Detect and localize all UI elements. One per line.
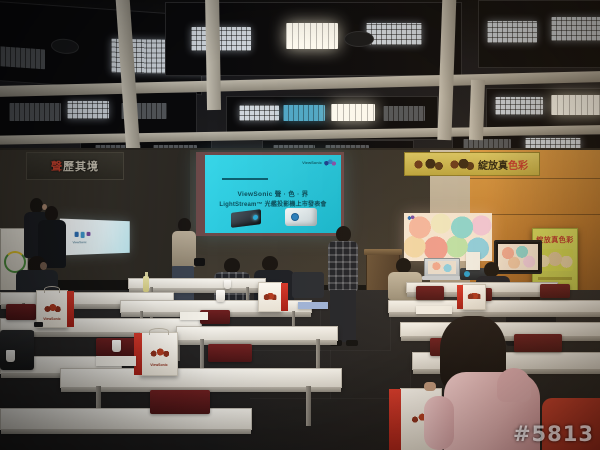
handout-paper — [416, 306, 452, 314]
paper-cup — [112, 340, 121, 352]
ceiling-beam — [205, 0, 221, 110]
hand — [424, 382, 436, 391]
demo-monitor — [494, 240, 542, 274]
chair — [150, 390, 210, 414]
handout-paper — [180, 312, 208, 320]
table-leg — [200, 339, 204, 369]
head — [45, 206, 58, 221]
bag-gusset — [457, 285, 463, 309]
laptop-base — [422, 276, 460, 280]
viewsonic-logo-text: ViewSonic — [302, 161, 322, 165]
face — [40, 262, 47, 270]
laptop-lid — [424, 258, 460, 278]
chair — [514, 334, 562, 352]
ceiling-lamp — [487, 21, 537, 43]
ceiling-lamp — [495, 97, 543, 115]
gift-bag: ViewSonic — [140, 332, 178, 376]
bag-handle — [44, 286, 61, 293]
banner-artwork — [448, 157, 474, 172]
ceiling-lamp — [283, 105, 325, 121]
bag-logo — [43, 303, 61, 312]
ceiling-vent — [51, 38, 79, 55]
ceiling-lamp — [331, 104, 375, 121]
chair — [416, 286, 444, 300]
camera — [194, 258, 205, 266]
gift-bag — [462, 284, 486, 310]
watermark: #5813 — [513, 422, 594, 446]
paper-cup — [224, 280, 231, 289]
head — [262, 256, 278, 271]
bag-gusset — [281, 283, 288, 311]
ceiling-lamp — [366, 23, 422, 45]
bag-handle — [149, 328, 169, 335]
ceiling-lamp — [67, 101, 109, 119]
torso — [328, 241, 358, 291]
ceiling-lamp — [191, 27, 251, 51]
product-image-white-projector — [285, 208, 317, 226]
slide-title-line1: ViewSonic 聲 · 色 · 界 — [205, 188, 341, 198]
bag-gusset — [67, 291, 74, 327]
torso — [172, 231, 196, 267]
table-leg — [316, 339, 320, 369]
table-row — [0, 408, 252, 430]
ceiling-lamp — [9, 103, 61, 121]
wall-banner-right-text: 綻放真色彩 — [478, 157, 528, 172]
paper-cup — [216, 290, 225, 302]
wall-sign-left: 聲歷其境 — [26, 152, 124, 180]
bag-logo — [263, 293, 276, 300]
product-image-dark-projector — [231, 209, 261, 228]
ceiling-lamp — [286, 23, 338, 49]
hood — [497, 368, 531, 402]
gift-bag — [258, 282, 282, 312]
main-projection-screen: ViewSonic ViewSonic 聲 · 色 · 界 LightStrea… — [205, 155, 341, 233]
head — [178, 218, 191, 232]
wall-sign-left-text: 聲歷其境 — [51, 158, 99, 174]
viewsonic-logo: ViewSonic — [302, 159, 336, 166]
ceiling-lamp — [239, 105, 279, 121]
viewsonic-birds-icon — [324, 159, 336, 166]
slide-divider — [222, 178, 268, 180]
backpack — [292, 272, 324, 298]
ceiling-lamp — [551, 95, 600, 115]
wall-seam — [470, 178, 600, 179]
table-edge — [1, 429, 251, 434]
left-screen-caption: ViewSonic — [73, 240, 87, 244]
conference-room-photo: 聲歷其境 綻放真色彩 綻放真色彩 ViewSonic ViewSonic Vie… — [0, 0, 600, 450]
wall-sign-left-accent: 聲 — [51, 161, 63, 173]
rollup-banner-photos — [537, 249, 573, 271]
rollup-banner-line — [538, 277, 572, 280]
monitor-stand — [512, 272, 524, 274]
podium-top — [364, 249, 402, 255]
ceiling-vent — [344, 31, 374, 47]
demo-laptop — [424, 258, 458, 280]
head — [224, 258, 240, 273]
bag-logo — [148, 347, 170, 358]
left-projection-screen: ViewSonic — [60, 219, 130, 256]
head — [396, 258, 411, 273]
ceiling-coffer — [478, 0, 600, 68]
smartphone — [34, 322, 43, 327]
demo-monitor-image — [498, 244, 538, 270]
chair — [208, 344, 252, 362]
table-row — [60, 368, 342, 388]
bag-gusset — [389, 389, 401, 450]
laptop-screen — [428, 261, 456, 274]
head — [484, 262, 499, 277]
banner-artwork — [410, 157, 444, 172]
viewsonic-birds-icon — [75, 232, 91, 238]
banner-accent-text: 色彩 — [508, 161, 528, 172]
wall-banner-right: 綻放真色彩 — [404, 152, 540, 176]
chair — [6, 304, 36, 320]
head — [336, 226, 351, 242]
water-bottle — [143, 276, 149, 292]
ceiling-lamp — [0, 45, 45, 69]
table-leg — [306, 386, 311, 426]
paper-cup — [6, 350, 15, 362]
ceiling-lamp — [551, 17, 600, 41]
arm — [424, 396, 454, 450]
shoe — [346, 340, 358, 346]
bag-gusset — [134, 333, 142, 375]
chair — [540, 284, 570, 298]
bag-logo — [467, 293, 480, 299]
ceiling-beam — [469, 80, 485, 140]
bag-brand: ViewSonic — [37, 317, 67, 321]
ceiling — [0, 0, 600, 152]
handout-paper — [96, 356, 136, 366]
ceiling-lamp — [383, 106, 425, 121]
slide-title-line2: LightStream™ 光艦投影機上市發表會 — [205, 199, 341, 208]
notebook — [298, 302, 328, 309]
bag-brand: ViewSonic — [141, 363, 177, 367]
viewsonic-birds-icon — [407, 215, 415, 220]
demo-placard — [466, 252, 480, 270]
